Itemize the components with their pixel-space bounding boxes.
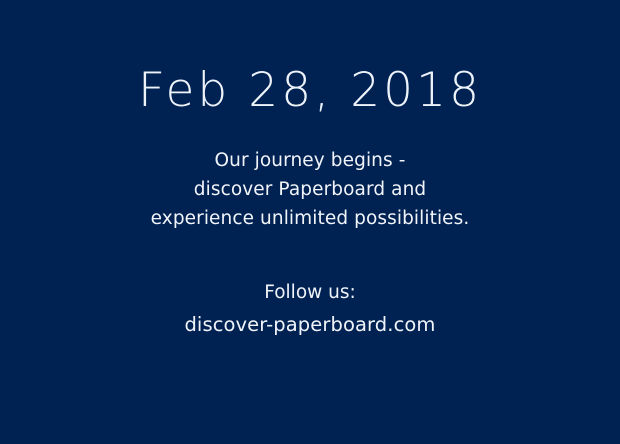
website-link[interactable]: discover-paperboard.com <box>184 311 435 339</box>
message-block: Our journey begins - discover Paperboard… <box>0 146 620 233</box>
announcement-card: Feb 28, 2018 Our journey begins - discov… <box>0 0 620 444</box>
follow-us-label: Follow us: <box>0 278 620 307</box>
message-line-1: Our journey begins - <box>0 146 620 175</box>
message-line-3: experience unlimited possibilities. <box>0 204 620 233</box>
message-line-2: discover Paperboard and <box>0 175 620 204</box>
follow-block: Follow us: discover-paperboard.com <box>0 278 620 339</box>
page-title: Feb 28, 2018 <box>0 62 620 120</box>
